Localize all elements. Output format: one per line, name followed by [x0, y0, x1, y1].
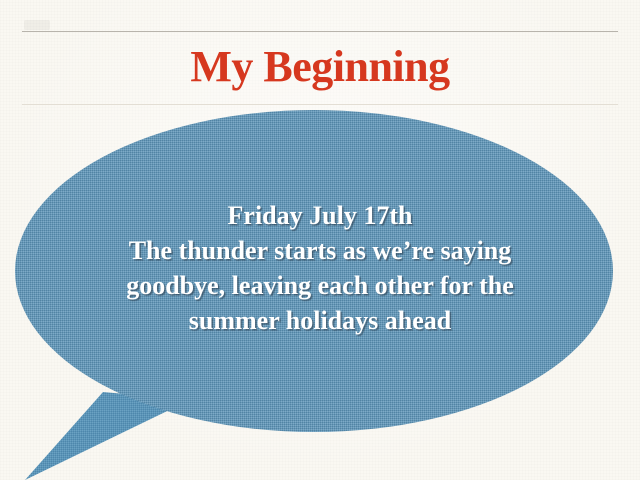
bubble-line-1: Friday July 17th [60, 198, 580, 233]
title-rule-top [22, 31, 618, 32]
bubble-line-3: goodbye, leaving each other for the [60, 268, 580, 303]
speech-bubble: Friday July 17th The thunder starts as w… [0, 100, 640, 480]
bubble-line-4: summer holidays ahead [60, 303, 580, 338]
faint-watermark-mark [24, 20, 50, 30]
page-title: My Beginning [0, 40, 640, 94]
presentation-slide: My Beginning Friday July 17th The thunde… [0, 0, 640, 480]
bubble-line-2: The thunder starts as we’re saying [60, 233, 580, 268]
speech-bubble-text: Friday July 17th The thunder starts as w… [60, 198, 580, 338]
